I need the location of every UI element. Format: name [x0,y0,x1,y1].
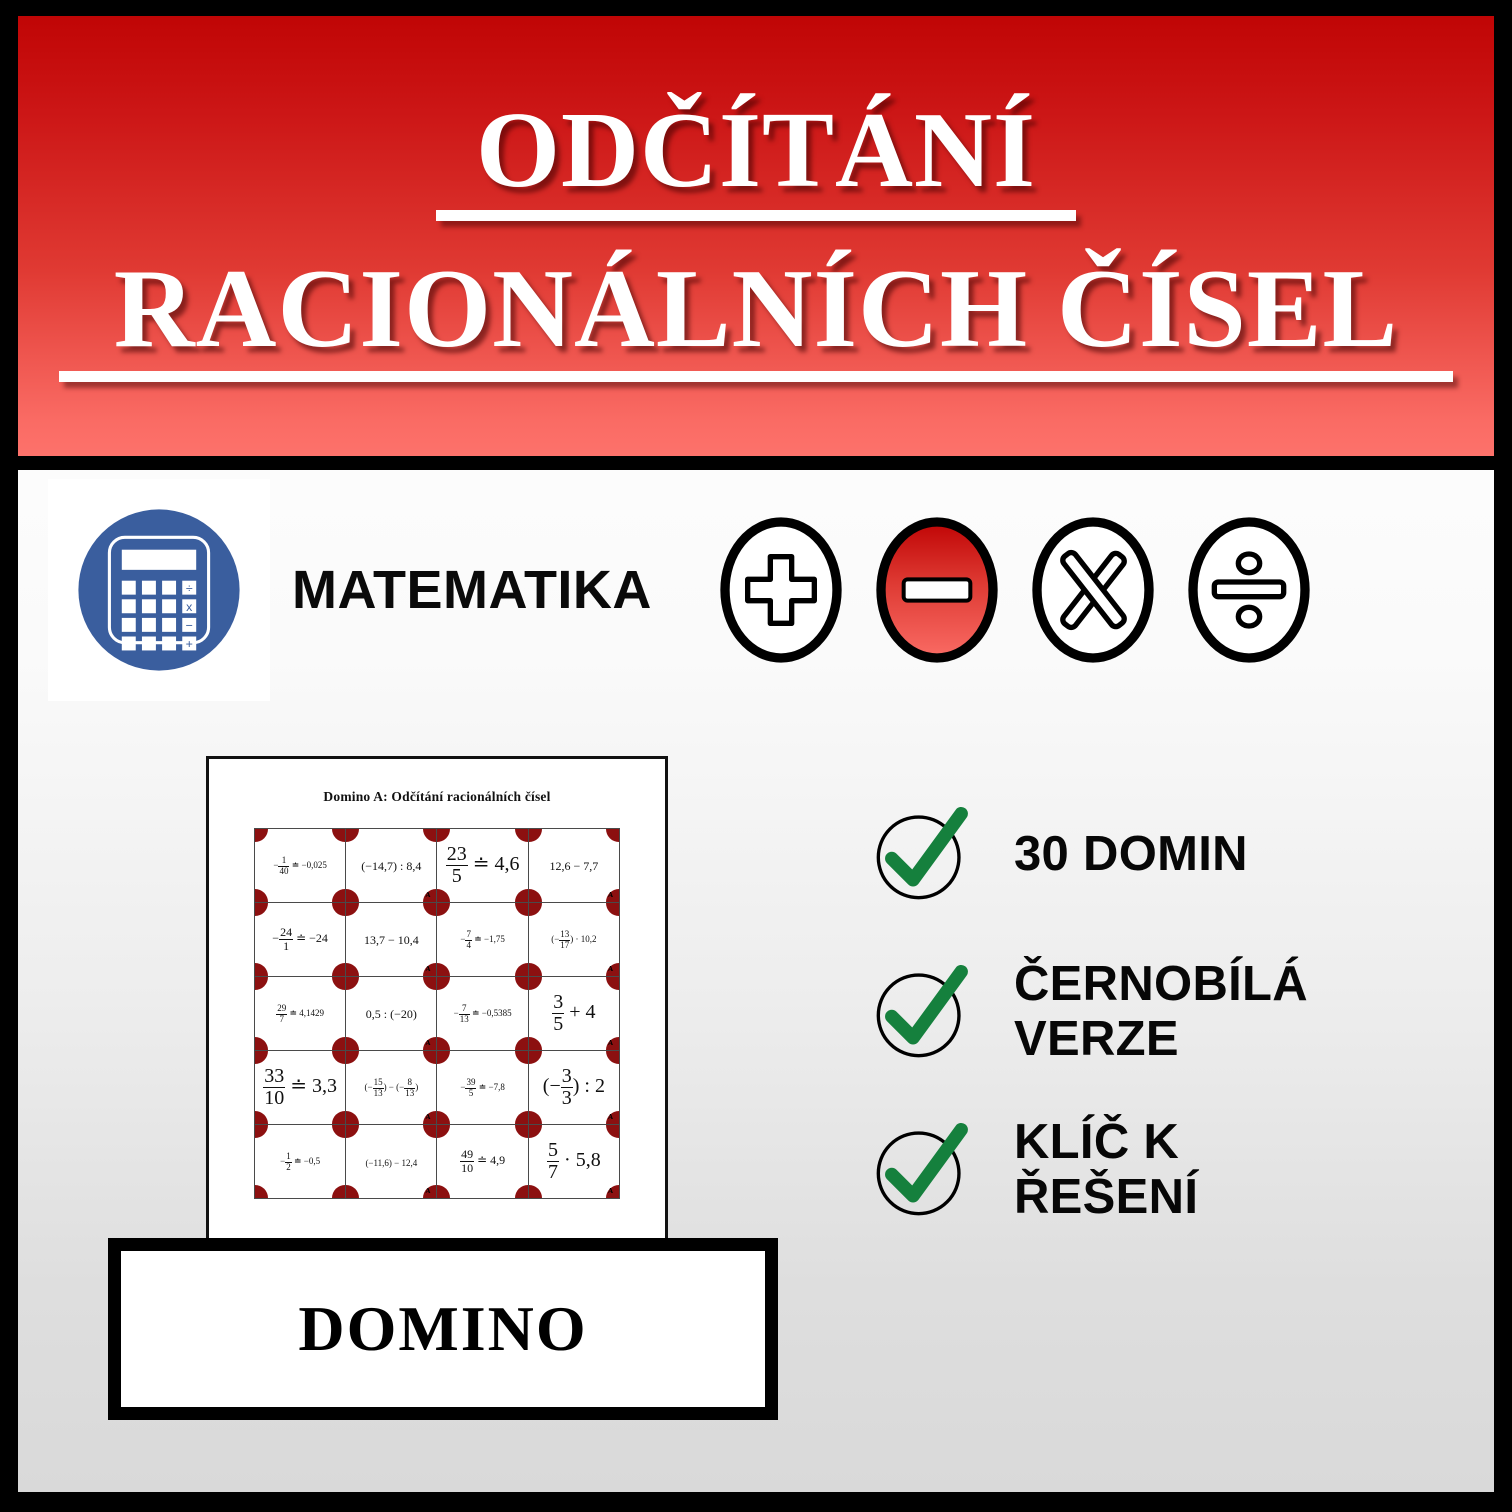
feature-label-count: 30 DOMIN [1014,827,1248,882]
domino-banner-label: DOMINO [298,1292,587,1366]
feature-label-key: KLÍČ KŘEŠENÍ [1014,1115,1198,1225]
domino-cell-expression: −713 ≐ −0,5385 [454,1004,512,1024]
worksheet-grid-body: −140 ≐ −0,025(−14,7) : 8,4A235 ≐ 4,612,6… [255,829,620,1199]
poster-header: ODČÍTÁNÍ RACIONÁLNÍCH ČÍSEL [18,16,1494,456]
feature-label-bw: ČERNOBÍLÁVERZE [1014,957,1308,1067]
worksheet-row: −140 ≐ −0,025(−14,7) : 8,4A235 ≐ 4,612,6… [255,829,620,903]
feature-item-key: KLÍČ KŘEŠENÍ [866,1114,1426,1226]
domino-cell-expression: (−1513) − (−813) [364,1078,418,1098]
calculator-icon: ÷ x − + [66,497,252,683]
domino-cell: −395 ≐ −7,8 [437,1051,528,1125]
domino-cell: −12 ≐ −0,5 [255,1125,346,1199]
operators-group [714,514,1316,666]
domino-cell: −713 ≐ −0,5385 [437,977,528,1051]
domino-cell: (−11,6) − 12,4A [346,1125,437,1199]
domino-cell-expression: 3310 ≐ 3,3 [263,1066,337,1109]
domino-cell: 235 ≐ 4,6 [437,829,528,903]
calculator-tile: ÷ x − + [48,479,270,701]
svg-text:+: + [186,637,193,651]
worksheet-grid: −140 ≐ −0,025(−14,7) : 8,4A235 ≐ 4,612,6… [254,828,620,1199]
domino-cell-expression: −12 ≐ −0,5 [280,1152,320,1172]
worksheet-row: −12 ≐ −0,5(−11,6) − 12,4A4910 ≐ 4,957 · … [255,1125,620,1199]
svg-text:x: x [186,600,193,614]
domino-cell-tag: A [608,891,613,899]
domino-cell: 4910 ≐ 4,9 [437,1125,528,1199]
domino-cell-tag: A [425,1113,430,1121]
subject-row: ÷ x − + MATEMATIKA [18,470,1494,710]
domino-cell: 57 · 5,8A [528,1125,619,1199]
domino-cell-tag: A [608,1039,613,1047]
plus-operator-icon[interactable] [714,514,848,666]
domino-cell-tag: A [608,965,613,973]
domino-banner-inner: DOMINO [121,1251,765,1407]
header-divider [18,456,1494,470]
check-circle-icon [866,798,978,910]
domino-cell-expression: 13,7 − 10,4 [364,933,419,948]
domino-cell-expression: (−14,7) : 8,4 [361,859,421,874]
multiply-operator-icon[interactable] [1026,514,1160,666]
domino-cell-expression: −140 ≐ −0,025 [273,856,326,876]
page-title-line-2: RACIONÁLNÍCH ČÍSEL [114,255,1398,365]
domino-cell-expression: 12,6 − 7,7 [549,859,598,874]
domino-cell-expression: (−33) : 2 [543,1066,605,1109]
title-underline-1 [436,210,1076,221]
domino-cell: 297 ≐ 4,1429 [255,977,346,1051]
worksheet-preview[interactable]: Domino A: Odčítání racionálních čísel −1… [206,756,668,1266]
domino-cell-tag: A [425,891,430,899]
worksheet-row: 3310 ≐ 3,3(−1513) − (−813)A−395 ≐ −7,8(−… [255,1051,620,1125]
domino-cell-expression: (−11,6) − 12,4 [365,1158,417,1168]
domino-cell-expression: 0,5 : (−20) [366,1007,417,1022]
check-circle-icon [866,1114,978,1226]
domino-cell-expression: 235 ≐ 4,6 [446,844,520,887]
minus-operator-icon[interactable] [870,514,1004,666]
worksheet-row: 297 ≐ 4,14290,5 : (−20)A−713 ≐ −0,538535… [255,977,620,1051]
domino-cell-expression: 4910 ≐ 4,9 [460,1148,505,1174]
domino-cell: −241 ≐ −24 [255,903,346,977]
domino-cell: 35 + 4A [528,977,619,1051]
worksheet-title: Domino A: Odčítání racionálních čísel [209,789,665,805]
title-underline-2 [59,371,1453,382]
domino-cell-expression: −395 ≐ −7,8 [460,1078,504,1098]
domino-cell: 12,6 − 7,7A [528,829,619,903]
svg-text:−: − [186,619,193,633]
domino-cell: −140 ≐ −0,025 [255,829,346,903]
domino-cell: 3310 ≐ 3,3 [255,1051,346,1125]
domino-cell: −74 ≐ −1,75 [437,903,528,977]
domino-cell-expression: −74 ≐ −1,75 [460,930,504,950]
poster-root: ODČÍTÁNÍ RACIONÁLNÍCH ČÍSEL [0,0,1512,1512]
domino-cell-expression: 297 ≐ 4,1429 [276,1004,324,1024]
domino-banner: DOMINO [108,1238,778,1420]
domino-cell-tag: A [425,965,430,973]
subject-label: MATEMATIKA [292,559,652,621]
check-circle-icon [866,956,978,1068]
svg-text:÷: ÷ [186,581,193,595]
domino-cell-tag: A [425,1039,430,1047]
domino-cell: (−1317) · 10,2A [528,903,619,977]
features-list: 30 DOMIN ČERNOBÍLÁVERZE KLÍČ KŘEŠENÍ [866,798,1426,1272]
domino-cell-expression: (−1317) · 10,2 [551,930,596,950]
domino-cell-expression: 35 + 4 [552,992,595,1035]
domino-cell: (−1513) − (−813)A [346,1051,437,1125]
domino-cell: 0,5 : (−20)A [346,977,437,1051]
divide-operator-icon[interactable] [1182,514,1316,666]
poster-body: ÷ x − + MATEMATIKA [18,470,1494,1492]
domino-cell: (−33) : 2A [528,1051,619,1125]
domino-cell-expression: −241 ≐ −24 [272,926,328,952]
page-title-line-1: ODČÍTÁNÍ [476,98,1036,204]
domino-cell-expression: 57 · 5,8 [547,1140,601,1183]
domino-cell-tag: A [608,1187,613,1195]
worksheet-row: −241 ≐ −2413,7 − 10,4A−74 ≐ −1,75(−1317)… [255,903,620,977]
domino-cell: 13,7 − 10,4A [346,903,437,977]
domino-cell-tag: A [608,1113,613,1121]
domino-cell: (−14,7) : 8,4A [346,829,437,903]
feature-item-bw: ČERNOBÍLÁVERZE [866,956,1426,1068]
domino-cell-tag: A [425,1187,430,1195]
feature-item-count: 30 DOMIN [866,798,1426,910]
